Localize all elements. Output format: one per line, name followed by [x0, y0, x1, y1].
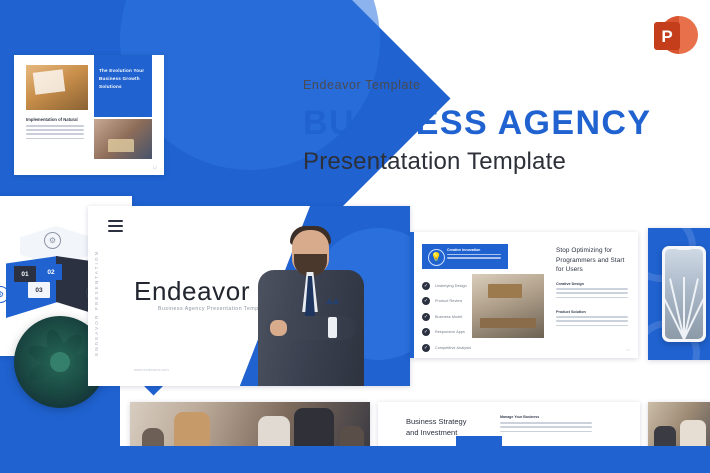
- hamburger-menu-icon[interactable]: [108, 220, 123, 235]
- slide-url: www.endeavor.com: [134, 367, 169, 372]
- step-badge-01: 01: [14, 266, 36, 282]
- businessman-photo: [252, 224, 370, 386]
- list-item: ✓ Competitive Analysis: [422, 344, 492, 352]
- list-item-label: Underlying Design: [435, 284, 467, 288]
- body-text-lines-1: [556, 288, 628, 301]
- list-item-label: Business Model: [435, 315, 462, 319]
- check-icon: ✓: [422, 328, 430, 336]
- page-title: BUSINESS AGENCY: [303, 106, 673, 140]
- creative-innovation-badge: 💡 Creative Innovation: [422, 244, 508, 269]
- slide-photo-contract: [26, 65, 88, 110]
- hero-eyebrow: Endeavor Template: [303, 78, 673, 92]
- lightbulb-icon: 💡: [428, 249, 445, 266]
- phone-screen-bridge-photo: [665, 249, 703, 339]
- check-icon: ✓: [422, 313, 430, 321]
- sub-heading-creative-design: Creative Design: [556, 282, 584, 286]
- slide-page-number: 14: [626, 348, 630, 352]
- badge-text-lines: [447, 254, 501, 261]
- phone-notch: [676, 246, 692, 250]
- hand: [270, 320, 287, 336]
- list-item-label: Product Review: [435, 299, 462, 303]
- check-icon: ✓: [422, 344, 430, 352]
- hero-text-block: Endeavor Template BUSINESS AGENCY Presen…: [303, 78, 673, 176]
- smartphone-mockup: [662, 246, 706, 342]
- slide-thumbnail-phone-mockup[interactable]: [648, 228, 710, 360]
- team-meeting-photo: [472, 274, 544, 338]
- slide-blue-heading: The Evolution Your Business Growth Solut…: [99, 67, 147, 91]
- step-badge-03: 03: [28, 282, 50, 298]
- slide-body-text-lines: [26, 125, 84, 142]
- template-preview-canvas: P Endeavor Template BUSINESS AGENCY Pres…: [0, 0, 710, 473]
- slide-body-heading: Implementation of Natural: [26, 117, 78, 122]
- step-badge-02: 02: [40, 264, 62, 280]
- badge-title: Creative Innovation: [447, 248, 480, 252]
- check-icon: ✓: [422, 282, 430, 290]
- slide-page-number: 12: [153, 165, 157, 170]
- powerpoint-badge: P: [654, 14, 698, 58]
- settings-icon: ⚙: [44, 232, 61, 249]
- body-text-lines-2: [556, 316, 628, 329]
- bottom-band-notch: [456, 436, 502, 446]
- sub-heading-product-solution: Product Solution: [556, 310, 586, 314]
- list-item-label: Responsive Apps: [435, 330, 465, 334]
- shirt-cuff: [328, 317, 337, 338]
- powerpoint-icon: P: [654, 22, 680, 50]
- vertical-label: ENDEAVOR PRESENTATION: [94, 250, 99, 356]
- check-icon: ✓: [422, 297, 430, 305]
- slide-heading: Stop Optimizing for Programmers and Star…: [556, 246, 632, 275]
- body-text-lines: [500, 422, 592, 435]
- slide-accent-bar: [410, 232, 414, 358]
- sub-heading-manage-business: Manage Your Business: [500, 415, 539, 419]
- bottom-blue-band: [0, 446, 710, 473]
- hero-subtitle: Presentatation Template: [303, 148, 673, 176]
- slide-thumbnail-endeavor[interactable]: ENDEAVOR PRESENTATION Endeavor Business …: [88, 206, 410, 386]
- slide-photo-meeting: [94, 119, 152, 159]
- list-item-label: Competitive Analysis: [435, 346, 471, 350]
- slide-blue-panel: The Evolution Your Business Growth Solut…: [94, 55, 152, 117]
- slide-thumbnail-optimizing[interactable]: 💡 Creative Innovation ✓ Underlying Desig…: [410, 232, 638, 358]
- slide-title-endeavor: Endeavor: [134, 276, 250, 307]
- slide-thumbnail-evolution[interactable]: The Evolution Your Business Growth Solut…: [14, 55, 164, 175]
